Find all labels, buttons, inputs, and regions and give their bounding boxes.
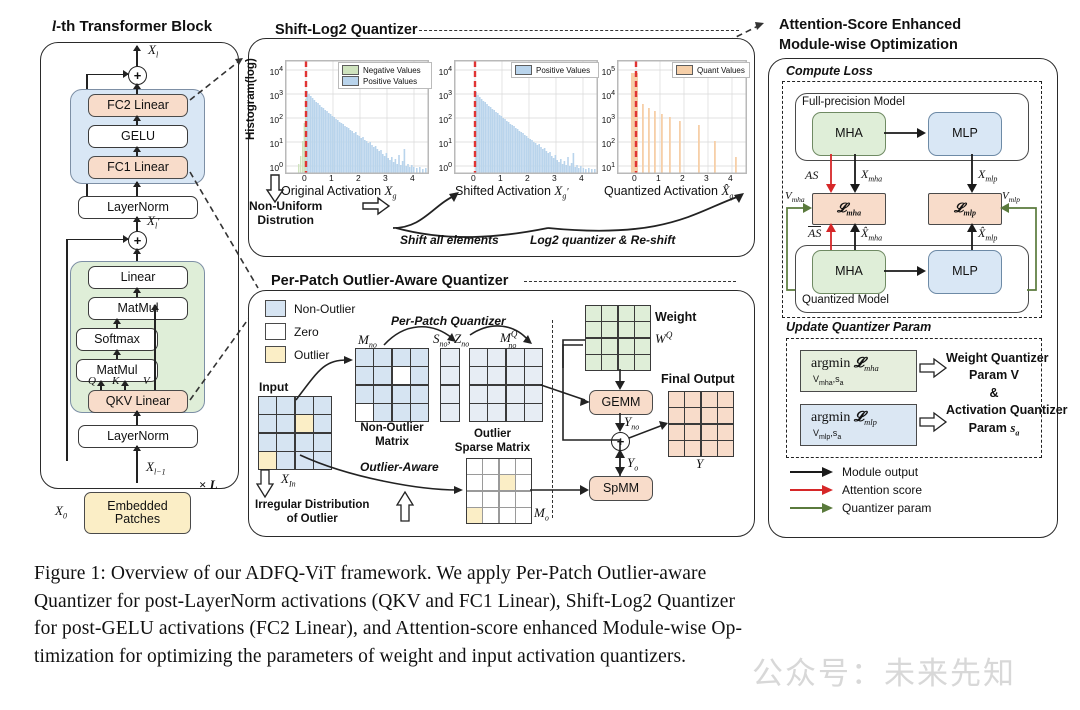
arrow-gelu-fc2 bbox=[136, 116, 138, 125]
arrow-fc2-add bbox=[136, 84, 138, 94]
arrow-fc1-gelu bbox=[136, 147, 138, 156]
hist-yticks-1: 104 103 102 101 100 bbox=[259, 70, 283, 170]
line-xl-out bbox=[136, 46, 138, 66]
arrow-lnb-qkv bbox=[136, 411, 138, 425]
argmin-mha-box[interactable]: argmin 𝓛mha Vmha,sa bbox=[800, 350, 917, 392]
label-repeat-L: × L bbox=[199, 477, 218, 493]
legend-arrow-attention bbox=[790, 485, 834, 495]
q-model-label: Quantized Model bbox=[802, 294, 889, 306]
quantized-nonoutlier-matrix bbox=[469, 348, 543, 422]
gelu-box[interactable]: GELU bbox=[88, 125, 188, 148]
skip-top-h bbox=[86, 74, 128, 76]
attn-softmax-box[interactable]: Softmax bbox=[76, 328, 158, 351]
arrow-k-matmul1 bbox=[124, 381, 126, 390]
label-v-mha: Vmha bbox=[785, 190, 805, 204]
arrow-matmul1-softmax bbox=[116, 350, 118, 359]
label-xl-1: Xl−1 bbox=[146, 459, 166, 477]
label-v-mlp: Vmlp bbox=[1002, 190, 1020, 204]
label-yo: Yo bbox=[627, 455, 638, 473]
input-label: Input bbox=[259, 380, 288, 394]
log2-reshift-label: Log2 quantizer & Re-shift bbox=[530, 233, 675, 247]
arrow-q-matmul1 bbox=[100, 381, 102, 390]
per-patch-add: + bbox=[611, 432, 630, 451]
final-output-label: Final Output bbox=[661, 372, 735, 386]
arrow-add2-ln bbox=[136, 217, 138, 231]
nonoutlier-matrix-label: Non-Outlier Matrix bbox=[352, 422, 432, 450]
arrow-matmul2-linear bbox=[136, 288, 138, 297]
hist-legend-1: Negative Values Positive Values bbox=[338, 62, 432, 89]
label-q: Q bbox=[88, 375, 96, 387]
outlier-sparse-matrix bbox=[466, 458, 532, 524]
legend-arrow-quantparam bbox=[790, 503, 834, 513]
arrow-v-matmul2 bbox=[154, 305, 156, 390]
label-k: K bbox=[112, 375, 119, 387]
legend-swatch-nonoutlier bbox=[265, 300, 286, 317]
label-as-hat: AS bbox=[808, 226, 821, 241]
hist-yticks-2: 104 103 102 101 100 bbox=[428, 70, 452, 170]
label-mno-q: MQno bbox=[500, 330, 525, 348]
label-as: AS bbox=[805, 168, 818, 183]
legend-arrow-module bbox=[790, 467, 834, 477]
label-y: Y bbox=[696, 456, 703, 472]
hist-yticks-3: 105 104 103 102 101 bbox=[591, 70, 615, 170]
spmm-box[interactable]: SpMM bbox=[589, 476, 653, 501]
input-down-arrow bbox=[255, 470, 285, 500]
per-patch-title: Per-Patch Outlier-Aware Quantizer bbox=[271, 273, 508, 289]
scale-zero-vector bbox=[440, 348, 460, 422]
embedded-patches-box[interactable]: Embedded Patches bbox=[84, 492, 191, 534]
fp-model-label: Full-precision Model bbox=[802, 96, 905, 108]
shift-all-elements-label: Shift all elements bbox=[400, 233, 499, 247]
fp-mlp-box[interactable]: MLP bbox=[928, 112, 1002, 156]
arrow-ln-fc1 bbox=[136, 182, 138, 196]
loss-mlp-box[interactable]: 𝓛mlp bbox=[928, 193, 1002, 225]
compute-loss-label: Compute Loss bbox=[786, 64, 873, 78]
fc1-linear-box[interactable]: FC1 Linear bbox=[88, 156, 188, 179]
label-v: V bbox=[143, 375, 150, 387]
argmin-mlp-box[interactable]: argmin 𝓛mlp Vmlp,sa bbox=[800, 404, 917, 446]
per-patch-quantizer-label: Per-Patch Quantizer bbox=[391, 314, 506, 328]
skip-bottom-v bbox=[66, 239, 68, 461]
irregular-distribution-label: Irregular Distribution of Outlier bbox=[255, 499, 369, 527]
skip-bottom-h bbox=[66, 239, 128, 241]
legend-swatch-outlier bbox=[265, 346, 286, 363]
non-uniform-label: Non-Uniform Distrution bbox=[249, 200, 322, 228]
per-patch-title-dash bbox=[524, 281, 736, 282]
caption-line-1: Figure 1: Overview of our ADFQ-ViT frame… bbox=[34, 560, 1049, 588]
arrow-softmax-matmul2 bbox=[116, 319, 118, 328]
label-xl-prime: Xl′ bbox=[147, 213, 159, 231]
caption-line-3: for post-GELU activations (FC2 Linear), … bbox=[34, 615, 1049, 643]
hist-legend-2: Positive Values bbox=[511, 62, 599, 78]
q-mha-box[interactable]: MHA bbox=[812, 250, 886, 294]
arrow-in-lnb bbox=[136, 446, 138, 483]
loss-mha-box[interactable]: 𝓛mha bbox=[812, 193, 886, 225]
label-wq: WQ bbox=[655, 331, 672, 347]
final-output-matrix bbox=[668, 391, 734, 457]
outlier-sparse-label: Outlier Sparse Matrix bbox=[440, 428, 545, 456]
label-xhat-mha: X̂mha bbox=[861, 226, 882, 242]
irregular-up-arrow bbox=[395, 492, 419, 522]
attention-opt-legend: Module output Attention score Quantizer … bbox=[790, 465, 931, 515]
weight-label: Weight bbox=[655, 310, 696, 324]
watermark: 公众号：未来先知 bbox=[752, 648, 1016, 693]
gemm-box[interactable]: GEMM bbox=[589, 390, 653, 415]
label-mo: Mo bbox=[534, 505, 549, 523]
hist-legend-3: Quant Values bbox=[672, 62, 750, 78]
per-patch-divider bbox=[552, 320, 553, 518]
attn-matmul2-box[interactable]: MatMul bbox=[88, 297, 188, 320]
hist-xlabel-1: Original Activation Xg bbox=[281, 183, 397, 201]
per-patch-legend: Non-Outlier Zero Outlier bbox=[265, 300, 355, 363]
update-param-label: Update Quantizer Param bbox=[786, 320, 931, 334]
label-mno: Mno bbox=[358, 332, 377, 350]
update-param-output-text: Weight Quantizer Param V & Activation Qu… bbox=[946, 350, 1042, 439]
fc2-linear-box[interactable]: FC2 Linear bbox=[88, 94, 188, 117]
shift-log2-title-dash bbox=[419, 30, 739, 31]
label-xl: Xl bbox=[148, 42, 158, 60]
label-x-mlp: Xmlp bbox=[978, 167, 997, 183]
input-matrix bbox=[258, 396, 332, 470]
label-x-mha: Xmha bbox=[861, 167, 882, 183]
shift-log2-title: Shift-Log2 Quantizer bbox=[275, 22, 418, 38]
embedded-patches-line2: Patches bbox=[115, 513, 160, 526]
label-x0: X0 bbox=[55, 503, 67, 521]
attention-opt-title: Attention-Score Enhanced Module-wise Opt… bbox=[779, 16, 961, 55]
transformer-block-title: l-th Transformer Block bbox=[52, 18, 212, 36]
fp-mha-box[interactable]: MHA bbox=[812, 112, 886, 156]
label-xhat-mlp: X̂mlp bbox=[978, 226, 997, 242]
hist-xlabel-2: Shifted Activation Xg′ bbox=[455, 183, 569, 201]
q-mlp-box[interactable]: MLP bbox=[928, 250, 1002, 294]
label-sz-no: Sno, Zno bbox=[433, 331, 469, 349]
arrow-attn-add bbox=[136, 249, 138, 261]
hist-xlabel-3: Quantized Activation X̂g bbox=[604, 183, 733, 201]
attn-linear-box[interactable]: Linear bbox=[88, 266, 188, 289]
label-yno: Yno bbox=[624, 414, 639, 432]
caption-line-2: Quantizer for post-LayerNorm activations… bbox=[34, 588, 1049, 616]
legend-swatch-zero bbox=[265, 323, 286, 340]
weight-matrix bbox=[585, 305, 651, 371]
outlier-aware-label: Outlier-Aware bbox=[360, 460, 439, 474]
nonoutlier-matrix bbox=[355, 348, 429, 422]
